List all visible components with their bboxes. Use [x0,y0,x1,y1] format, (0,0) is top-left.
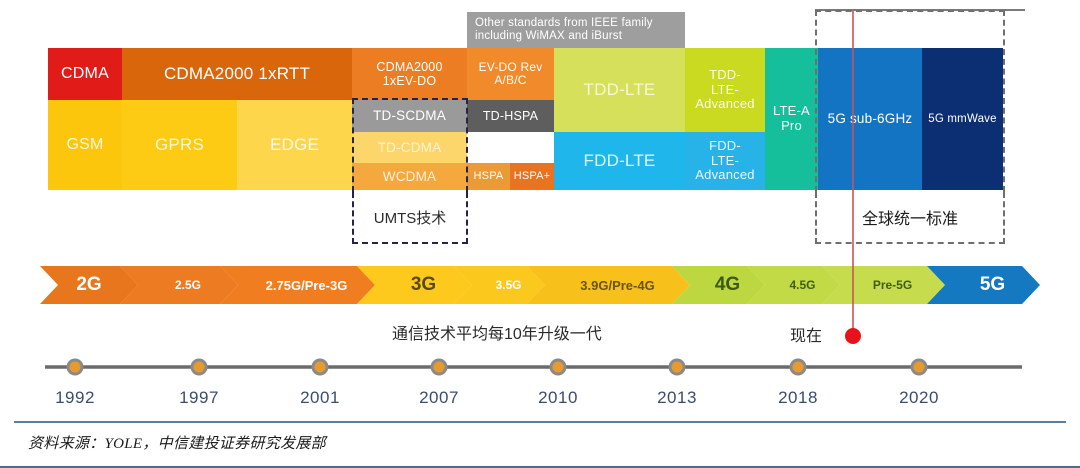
timeline-year-label: 2001 [280,388,360,408]
tech-block-spacer [467,132,554,163]
timeline-dot [194,362,205,373]
timeline-dot [315,362,326,373]
tech-block-cdma2000: CDMA2000 1xRTT [122,48,352,100]
global-standard-highlight-box [815,10,1005,192]
generation-arrow [822,266,945,304]
timeline-dot [553,362,564,373]
tech-block-hspa: HSPA [467,163,510,190]
tech-block-gprs: GPRS [122,100,237,190]
tech-block-cdma: CDMA [48,48,122,100]
tech-block-ieee: Other standards from IEEE family includi… [467,12,685,48]
tech-block-lte-a-pro: LTE-A Pro [765,48,818,190]
tech-block-edge: EDGE [237,100,352,190]
umts-highlight-box [352,98,468,192]
tech-block-td-hspa: TD-HSPA [467,100,554,132]
tech-block-tdd-lte: TDD-LTE [554,48,685,132]
tech-block-tdd-lte-advanced: TDD- LTE- Advanced [685,48,765,132]
timeline-dot [793,362,804,373]
tech-block-hspa-plus: HSPA+ [510,163,554,190]
timeline-year-label: 1992 [35,388,115,408]
global-standard-label: 全球统一标准 [858,205,962,229]
average-upgrade-note: 通信技术平均每10年升级一代 [392,320,602,344]
timeline-dot [914,362,925,373]
footer-divider [14,421,1066,423]
timeline-dot [672,362,683,373]
timeline-year-label: 2010 [518,388,598,408]
timeline-dot [70,362,81,373]
umts-label-box: UMTS技术 [352,192,468,244]
tech-block-gsm: GSM [48,100,122,190]
now-label: 现在 [790,322,822,346]
generation-arrow [527,266,690,304]
tech-block-cdma2000-evdo: CDMA2000 1xEV-DO [352,48,467,100]
timeline-year-label: 1997 [159,388,239,408]
timeline-year-label: 2020 [879,388,959,408]
timeline-dot [434,362,445,373]
figure-canvas: Other standards from IEEE family includi… [0,0,1080,468]
generation-arrow-band [0,262,1080,308]
timeline-year-label: 2007 [399,388,479,408]
generation-arrow [40,266,138,304]
umts-label: UMTS技术 [370,207,451,228]
global-standard-label-box: 全球统一标准 [815,192,1005,244]
timeline-year-label: 2013 [637,388,717,408]
generation-arrow [220,266,375,304]
tech-block-evdo-rev: EV-DO Rev A/B/C [467,48,554,100]
tech-block-fdd-lte: FDD-LTE [554,132,685,190]
timeline-year-label: 2018 [758,388,838,408]
tech-block-fdd-lte-advanced: FDD- LTE- Advanced [685,132,765,190]
source-note: 资料来源：YOLE，中信建投证券研究发展部 [28,432,326,453]
